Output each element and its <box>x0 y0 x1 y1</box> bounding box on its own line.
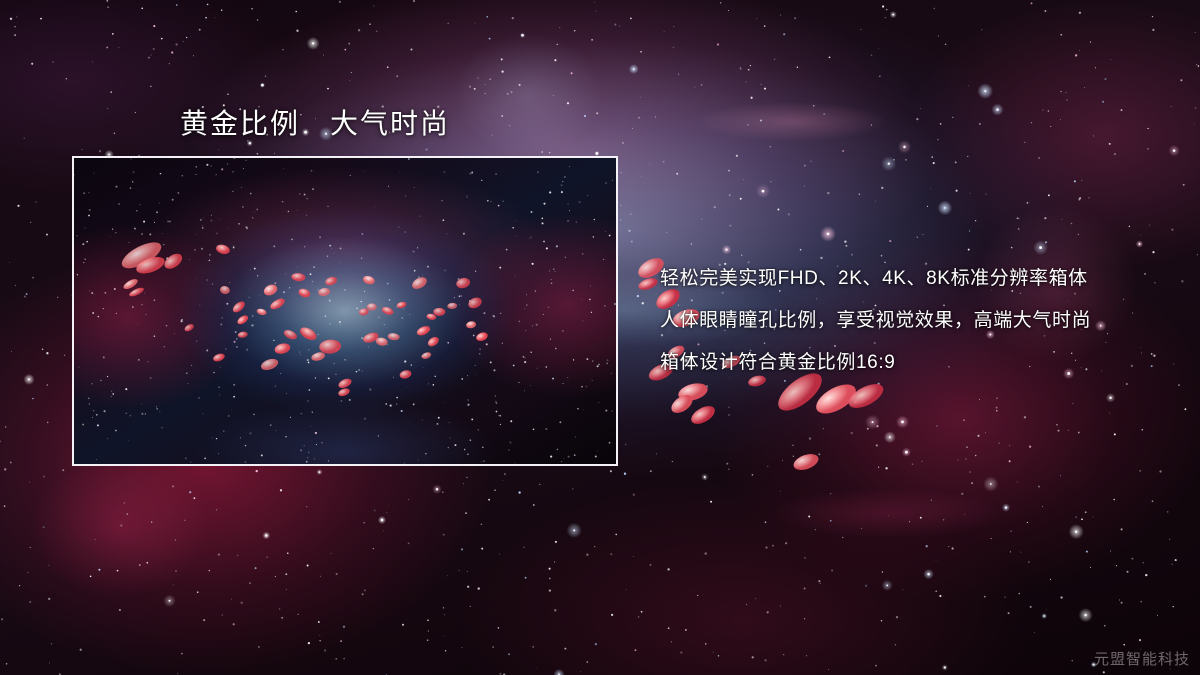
body-line-2: 人体眼睛瞳孔比例，享受视觉效果，高端大气时尚 <box>660 300 1180 342</box>
watermark: 元盟智能科技 <box>1094 648 1190 669</box>
body-line-1: 轻松完美实现FHD、2K、4K、8K标准分辨率箱体 <box>660 258 1180 300</box>
page-title: 黄金比例 大气时尚 <box>180 102 450 142</box>
presentation-slide: 黄金比例 大气时尚 轻松完美实现FHD、2K、4K、8K标准分辨率箱体 人体眼睛… <box>0 0 1200 675</box>
framed-image-petals <box>74 158 616 466</box>
framed-image <box>72 156 618 466</box>
body-text-block: 轻松完美实现FHD、2K、4K、8K标准分辨率箱体 人体眼睛瞳孔比例，享受视觉效… <box>660 258 1180 384</box>
body-line-3: 箱体设计符合黄金比例16:9 <box>660 342 1180 384</box>
